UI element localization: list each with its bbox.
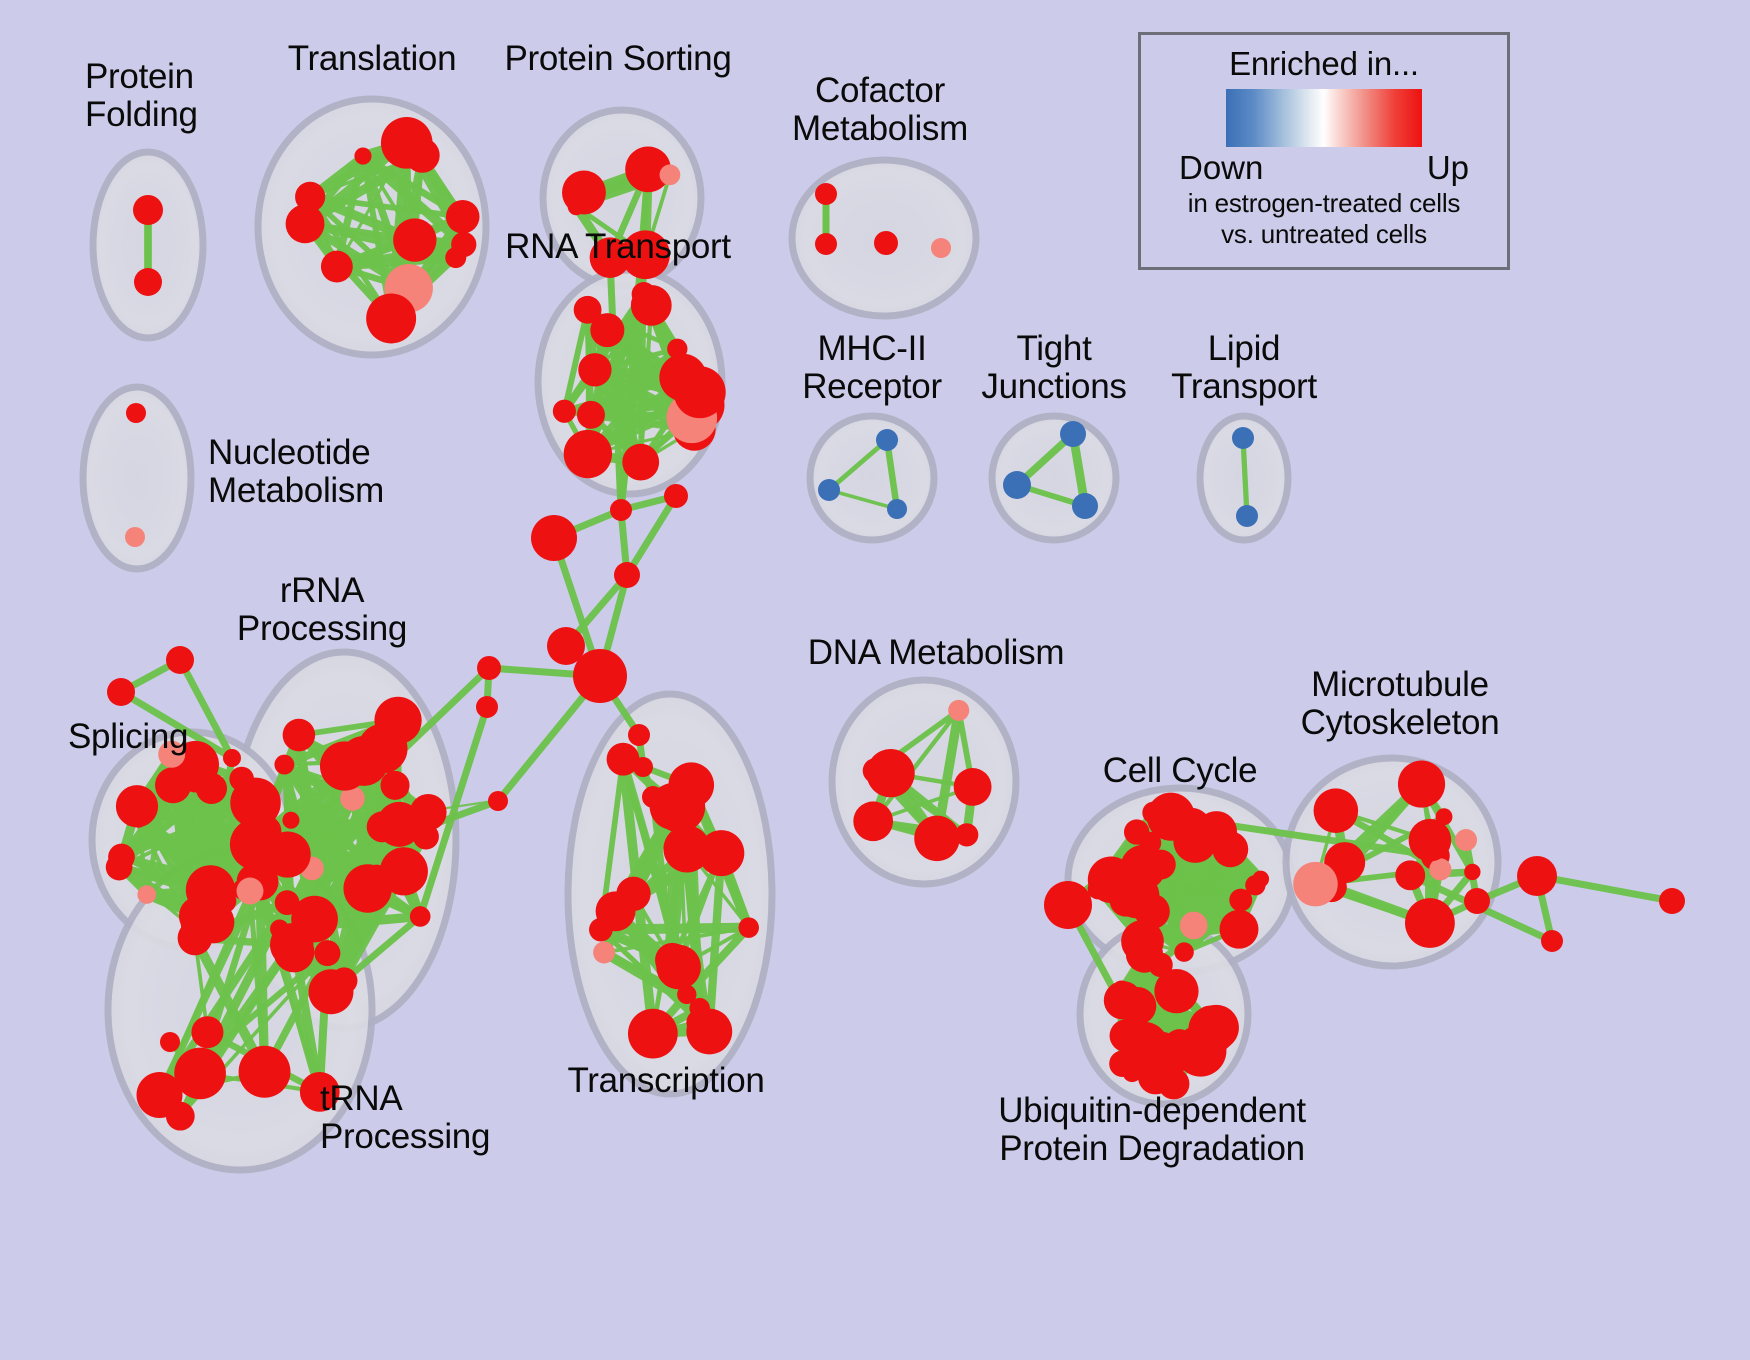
network-node-mhc_ii_receptor[interactable] (887, 499, 907, 519)
network-node-translation[interactable] (366, 293, 416, 343)
network-node-transcription[interactable] (596, 891, 636, 931)
network-node-ubiquitin_protein_degradation[interactable] (1104, 981, 1142, 1019)
network-node-bridge[interactable] (160, 1032, 180, 1052)
network-node-transcription[interactable] (656, 945, 701, 990)
network-node-rna_transport[interactable] (564, 430, 612, 478)
network-node-dna_metabolism[interactable] (948, 700, 969, 721)
network-edge (1537, 876, 1672, 901)
network-node-cell_cycle[interactable] (1142, 802, 1164, 824)
network-node-tight_junctions[interactable] (1060, 421, 1086, 447)
network-node-bridge[interactable] (1044, 881, 1092, 929)
network-node-bridge[interactable] (488, 791, 508, 811)
network-node-bridge[interactable] (628, 724, 650, 746)
cluster-label-translation: Translation (288, 40, 457, 78)
legend-colorbar (1226, 89, 1422, 147)
network-node-microtubule_cytoskeleton[interactable] (1395, 860, 1425, 890)
network-node-translation[interactable] (381, 117, 433, 169)
cluster-label-microtubule_cytoskeleton: Microtubule Cytoskeleton (1301, 666, 1500, 742)
network-node-nucleotide_metabolism[interactable] (125, 527, 145, 547)
network-node-bridge[interactable] (166, 646, 194, 674)
network-node-ubiquitin_protein_degradation[interactable] (1126, 936, 1163, 973)
cluster-label-trna_processing: tRNA Processing (320, 1080, 490, 1156)
network-node-translation[interactable] (321, 251, 353, 283)
network-node-dna_metabolism[interactable] (955, 823, 978, 846)
network-node-bridge[interactable] (531, 515, 577, 561)
network-node-bridge[interactable] (573, 649, 627, 703)
network-node-nucleotide_metabolism[interactable] (126, 403, 146, 423)
network-node-rrna_processing[interactable] (283, 719, 316, 752)
network-node-bridge[interactable] (642, 786, 664, 808)
network-node-microtubule_cytoskeleton[interactable] (1293, 862, 1338, 907)
network-node-rrna_processing[interactable] (339, 736, 389, 786)
network-node-dna_metabolism[interactable] (863, 758, 888, 783)
cluster-label-rna_transport: RNA Transport (505, 228, 731, 266)
network-node-protein_sorting[interactable] (660, 164, 681, 185)
network-node-cell_cycle[interactable] (1180, 912, 1208, 940)
cluster-label-ubiquitin_protein_degradation: Ubiquitin-dependent Protein Degradation (998, 1092, 1306, 1168)
network-node-rrna_processing[interactable] (380, 847, 428, 895)
network-node-trna_processing[interactable] (174, 1048, 226, 1100)
network-node-bridge[interactable] (610, 499, 632, 521)
network-node-mhc_ii_receptor[interactable] (818, 479, 840, 501)
network-node-microtubule_cytoskeleton[interactable] (1314, 788, 1359, 833)
network-node-tight_junctions[interactable] (1072, 493, 1098, 519)
legend-subtitle-line1: in estrogen-treated cells (1141, 189, 1507, 218)
network-node-cell_cycle[interactable] (1174, 942, 1193, 961)
network-node-tight_junctions[interactable] (1003, 471, 1031, 499)
network-node-ubiquitin_protein_degradation[interactable] (1154, 969, 1198, 1013)
network-node-trna_processing[interactable] (166, 1102, 195, 1131)
legend-panel: Enriched in... Down Up in estrogen-treat… (1138, 32, 1510, 270)
network-node-cofactor_metabolism[interactable] (815, 233, 837, 255)
network-node-bridge[interactable] (477, 656, 501, 680)
network-node-microtubule_cytoskeleton[interactable] (1429, 858, 1451, 880)
legend-subtitle-line2: vs. untreated cells (1141, 220, 1507, 249)
network-node-cell_cycle[interactable] (1220, 910, 1259, 949)
cluster-label-protein_sorting: Protein Sorting (504, 40, 731, 78)
network-node-trna_processing[interactable] (275, 890, 300, 915)
network-node-translation[interactable] (393, 218, 436, 261)
network-node-splicing[interactable] (181, 763, 210, 792)
cluster-label-dna_metabolism: DNA Metabolism (808, 634, 1064, 672)
network-node-trna_processing[interactable] (237, 878, 264, 905)
network-node-rrna_processing[interactable] (413, 823, 439, 849)
network-node-rna_transport[interactable] (622, 444, 659, 481)
network-node-dna_metabolism[interactable] (853, 801, 893, 841)
network-node-lipid_transport[interactable] (1232, 427, 1254, 449)
network-node-rrna_processing[interactable] (410, 906, 431, 927)
network-node-ubiquitin_protein_degradation[interactable] (1138, 1059, 1173, 1094)
network-node-bridge[interactable] (1659, 888, 1685, 914)
network-node-transcription[interactable] (738, 917, 758, 937)
network-node-transcription[interactable] (593, 942, 615, 964)
network-node-transcription[interactable] (698, 830, 744, 876)
network-node-cell_cycle[interactable] (1173, 808, 1211, 846)
network-node-transcription[interactable] (689, 998, 710, 1019)
network-node-splicing[interactable] (108, 844, 135, 871)
network-node-translation[interactable] (446, 200, 480, 234)
cluster-label-rrna_processing: rRNA Processing (237, 572, 407, 648)
cluster-label-transcription: Transcription (567, 1062, 764, 1100)
network-node-microtubule_cytoskeleton[interactable] (1398, 761, 1445, 808)
network-node-rna_transport[interactable] (577, 401, 605, 429)
network-node-trna_processing[interactable] (270, 923, 314, 967)
network-node-transcription[interactable] (628, 1009, 678, 1059)
network-node-rrna_processing[interactable] (331, 967, 358, 994)
network-figure: Protein FoldingTranslationProtein Sortin… (0, 0, 1750, 1360)
network-node-protein_sorting[interactable] (568, 198, 585, 215)
network-node-bridge[interactable] (1464, 888, 1490, 914)
network-node-splicing[interactable] (229, 767, 254, 792)
network-node-cell_cycle[interactable] (1229, 889, 1252, 912)
network-node-rrna_processing[interactable] (282, 812, 299, 829)
network-node-rna_transport[interactable] (659, 354, 706, 401)
network-node-rna_transport[interactable] (590, 313, 624, 347)
network-node-cofactor_metabolism[interactable] (815, 183, 837, 205)
network-node-rrna_processing[interactable] (274, 755, 294, 775)
network-node-bridge[interactable] (633, 757, 653, 777)
network-node-rrna_processing[interactable] (367, 811, 398, 842)
network-node-cofactor_metabolism[interactable] (931, 238, 951, 258)
network-node-dna_metabolism[interactable] (914, 816, 959, 861)
network-node-bridge[interactable] (664, 484, 688, 508)
network-node-bridge[interactable] (223, 749, 241, 767)
network-node-translation[interactable] (286, 204, 325, 243)
network-node-translation[interactable] (354, 147, 371, 164)
network-node-cell_cycle[interactable] (1124, 819, 1149, 844)
network-node-microtubule_cytoskeleton[interactable] (1464, 864, 1480, 880)
cluster-label-cofactor_metabolism: Cofactor Metabolism (792, 72, 968, 148)
network-node-trna_processing[interactable] (191, 1016, 223, 1048)
network-node-bridge[interactable] (107, 678, 135, 706)
network-node-cofactor_metabolism[interactable] (874, 231, 898, 255)
legend-low-label: Down (1179, 149, 1263, 187)
network-node-lipid_transport[interactable] (1236, 505, 1258, 527)
network-node-microtubule_cytoskeleton[interactable] (1405, 898, 1455, 948)
network-node-protein_folding[interactable] (134, 268, 162, 296)
cluster-label-cell_cycle: Cell Cycle (1103, 752, 1258, 790)
network-node-bridge[interactable] (1541, 930, 1563, 952)
legend-title: Enriched in... (1141, 45, 1507, 83)
network-node-ubiquitin_protein_degradation[interactable] (1196, 1006, 1222, 1032)
network-node-cell_cycle[interactable] (1109, 884, 1142, 917)
network-node-bridge[interactable] (476, 696, 498, 718)
cluster-label-protein_folding: Protein Folding (85, 58, 198, 134)
network-node-cell_cycle[interactable] (1252, 871, 1269, 888)
network-node-bridge[interactable] (1455, 829, 1477, 851)
network-node-splicing[interactable] (130, 810, 148, 828)
cluster-label-mhc_ii_receptor: MHC-II Receptor (802, 330, 942, 406)
network-node-rna_transport[interactable] (553, 400, 576, 423)
network-node-rna_transport[interactable] (631, 285, 672, 326)
network-node-cell_cycle[interactable] (1146, 850, 1176, 880)
network-node-trna_processing[interactable] (314, 940, 340, 966)
network-node-bridge[interactable] (614, 562, 640, 588)
cluster-label-tight_junctions: Tight Junctions (981, 330, 1126, 406)
cluster-hull-mhc_ii_receptor (810, 416, 934, 540)
network-node-protein_folding[interactable] (133, 195, 163, 225)
network-node-microtubule_cytoskeleton[interactable] (1409, 819, 1452, 862)
cluster-label-nucleotide_metabolism: Nucleotide Metabolism (208, 434, 384, 510)
network-node-cell_cycle[interactable] (1212, 831, 1248, 867)
network-node-mhc_ii_receptor[interactable] (876, 429, 898, 451)
cluster-label-splicing: Splicing (68, 718, 188, 756)
network-node-trna_processing[interactable] (239, 1046, 291, 1098)
network-node-splicing[interactable] (137, 885, 156, 904)
network-node-ubiquitin_protein_degradation[interactable] (1151, 1034, 1179, 1062)
network-node-trna_processing[interactable] (178, 921, 213, 956)
network-node-translation[interactable] (451, 232, 476, 257)
network-node-splicing[interactable] (252, 830, 281, 859)
legend-high-label: Up (1427, 149, 1469, 187)
network-node-rrna_processing[interactable] (380, 771, 409, 800)
network-node-rna_transport[interactable] (578, 353, 611, 386)
cluster-label-lipid_transport: Lipid Transport (1171, 330, 1317, 406)
network-node-bridge[interactable] (1517, 856, 1557, 896)
network-node-dna_metabolism[interactable] (954, 768, 992, 806)
